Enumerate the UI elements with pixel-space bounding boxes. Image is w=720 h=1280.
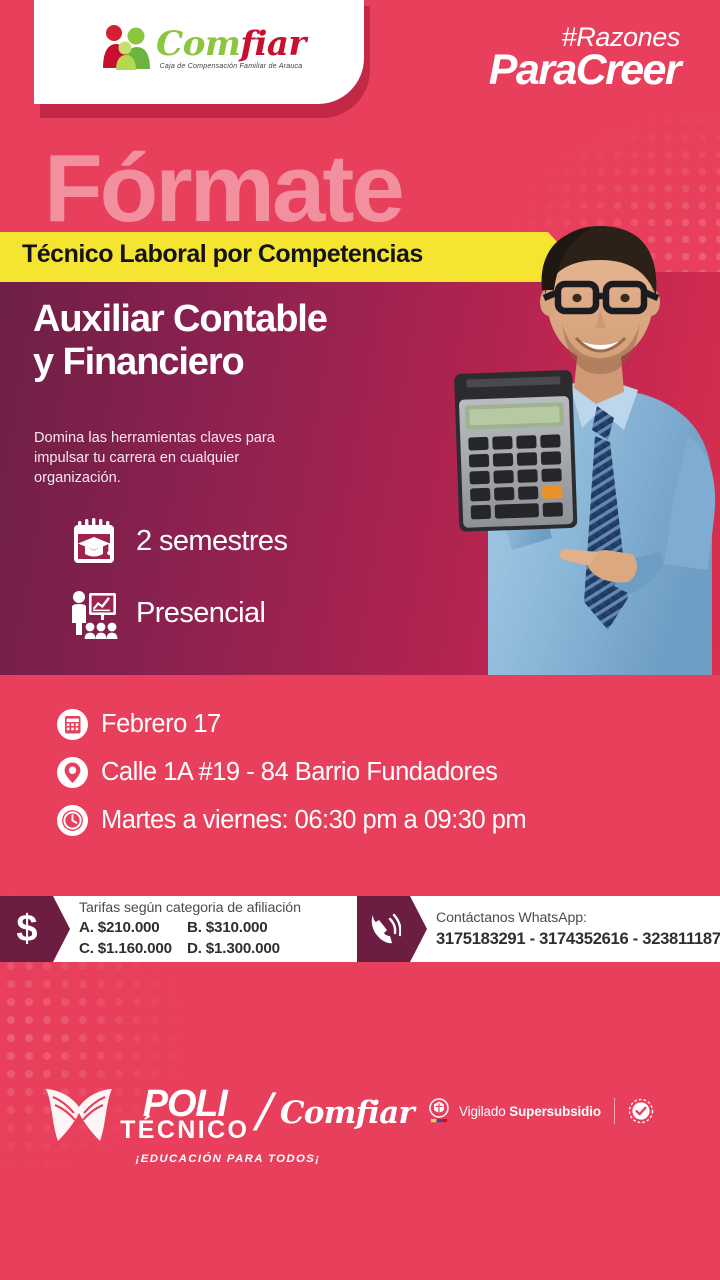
vigilado-badge: Vigilado Supersubsidio — [428, 1098, 654, 1124]
open-book-icon — [42, 1085, 116, 1145]
brand-tagline: Caja de Compensación Familiar de Arauca — [160, 62, 303, 70]
features-list: 2 semestres — [70, 505, 287, 649]
feature-duration-label: 2 semestres — [136, 525, 287, 558]
course-title-line1: Auxiliar Contable — [33, 298, 327, 341]
check-seal-icon — [628, 1098, 654, 1124]
course-description: Domina las herramientas claves para impu… — [34, 428, 312, 488]
brand-name: Comfiar — [156, 28, 306, 60]
formate-watermark: Fórmate — [44, 141, 402, 237]
vigilado-divider — [614, 1098, 615, 1124]
classroom-presenter-icon — [70, 587, 118, 639]
course-title: Auxiliar Contable y Financiero — [33, 298, 327, 383]
hashtag-line2: ParaCreer — [489, 49, 680, 93]
footer-logo-row: POLI TÉCNICO / Comfiar — [42, 1083, 414, 1147]
poster-root: Fórmate — [0, 0, 720, 1280]
calendar-icon — [57, 709, 88, 740]
footer-tagline: ¡EDUCACIÓN PARA TODOS¡ — [136, 1153, 321, 1165]
feature-duration: 2 semestres — [70, 505, 287, 577]
info-bars: $ Tarifas según categoria de afiliación … — [0, 896, 720, 962]
colombia-coat-of-arms-icon — [428, 1098, 450, 1124]
price-tier-a: A. $210.000 — [79, 918, 187, 939]
contact-numbers[interactable]: 3175183291 - 3174352616 - 3238111873 — [436, 928, 720, 950]
program-type-label: Técnico Laboral por Competencias — [22, 240, 423, 269]
clock-icon — [57, 805, 88, 836]
pricing-tiers: A. $210.000 B. $310.000 C. $1.160.000 D.… — [79, 918, 357, 959]
brand-text: Comfiar Caja de Compensación Familiar de… — [156, 28, 306, 70]
detail-schedule-text: Martes a viernes: 06:30 pm a 09:30 pm — [101, 806, 526, 835]
politecnico-wordmark: POLI TÉCNICO — [120, 1089, 249, 1142]
vigilado-text: Vigilado Supersubsidio — [459, 1104, 601, 1119]
pricing-title: Tarifas según categoria de afiliación — [79, 899, 357, 918]
pricing-bar: $ Tarifas según categoria de afiliación … — [0, 896, 357, 962]
contact-bar[interactable]: Contáctanos WhatsApp: 3175183291 - 31743… — [357, 896, 720, 962]
feature-modality-label: Presencial — [136, 597, 265, 630]
price-tier-d: D. $1.300.000 — [187, 939, 357, 960]
svg-text:$: $ — [16, 908, 37, 950]
contact-title: Contáctanos WhatsApp: — [436, 909, 720, 928]
calendar-graduation-cap-icon — [70, 515, 118, 567]
contact-content: Contáctanos WhatsApp: 3175183291 - 31743… — [410, 896, 720, 962]
header-brand-card: Comfiar Caja de Compensación Familiar de… — [34, 0, 364, 104]
price-tier-c: C. $1.160.000 — [79, 939, 187, 960]
course-title-line2: y Financiero — [33, 341, 327, 384]
detail-date: Febrero 17 — [57, 700, 526, 748]
tecnico-text: TÉCNICO — [120, 1120, 249, 1141]
brand-lockup: Comfiar Caja de Compensación Familiar de… — [82, 24, 316, 80]
politecnico-footer-logo: POLI TÉCNICO / Comfiar ¡EDUCACIÓN PARA T… — [68, 1083, 388, 1165]
campaign-hashtag: #Razones ParaCreer — [489, 24, 680, 93]
comfiar-footer-wordmark: Comfiar — [280, 1095, 414, 1131]
detail-location: Calle 1A #19 - 84 Barrio Fundadores — [57, 748, 526, 796]
comfiar-family-dots-icon — [100, 24, 152, 74]
detail-location-text: Calle 1A #19 - 84 Barrio Fundadores — [101, 758, 497, 787]
feature-modality: Presencial — [70, 577, 287, 649]
logo-divider: / — [250, 1083, 279, 1143]
price-tier-b: B. $310.000 — [187, 918, 357, 939]
man-with-calculator-photo — [392, 178, 720, 675]
location-pin-icon — [57, 757, 88, 788]
detail-schedule: Martes a viernes: 06:30 pm a 09:30 pm — [57, 796, 526, 844]
phone-ringing-icon — [357, 896, 410, 962]
event-details: Febrero 17 Calle 1A #19 - 84 Barrio Fund… — [57, 700, 526, 844]
dollar-sign-icon: $ — [0, 896, 53, 962]
pricing-content: Tarifas según categoria de afiliación A.… — [53, 896, 357, 962]
detail-date-text: Febrero 17 — [101, 710, 221, 739]
